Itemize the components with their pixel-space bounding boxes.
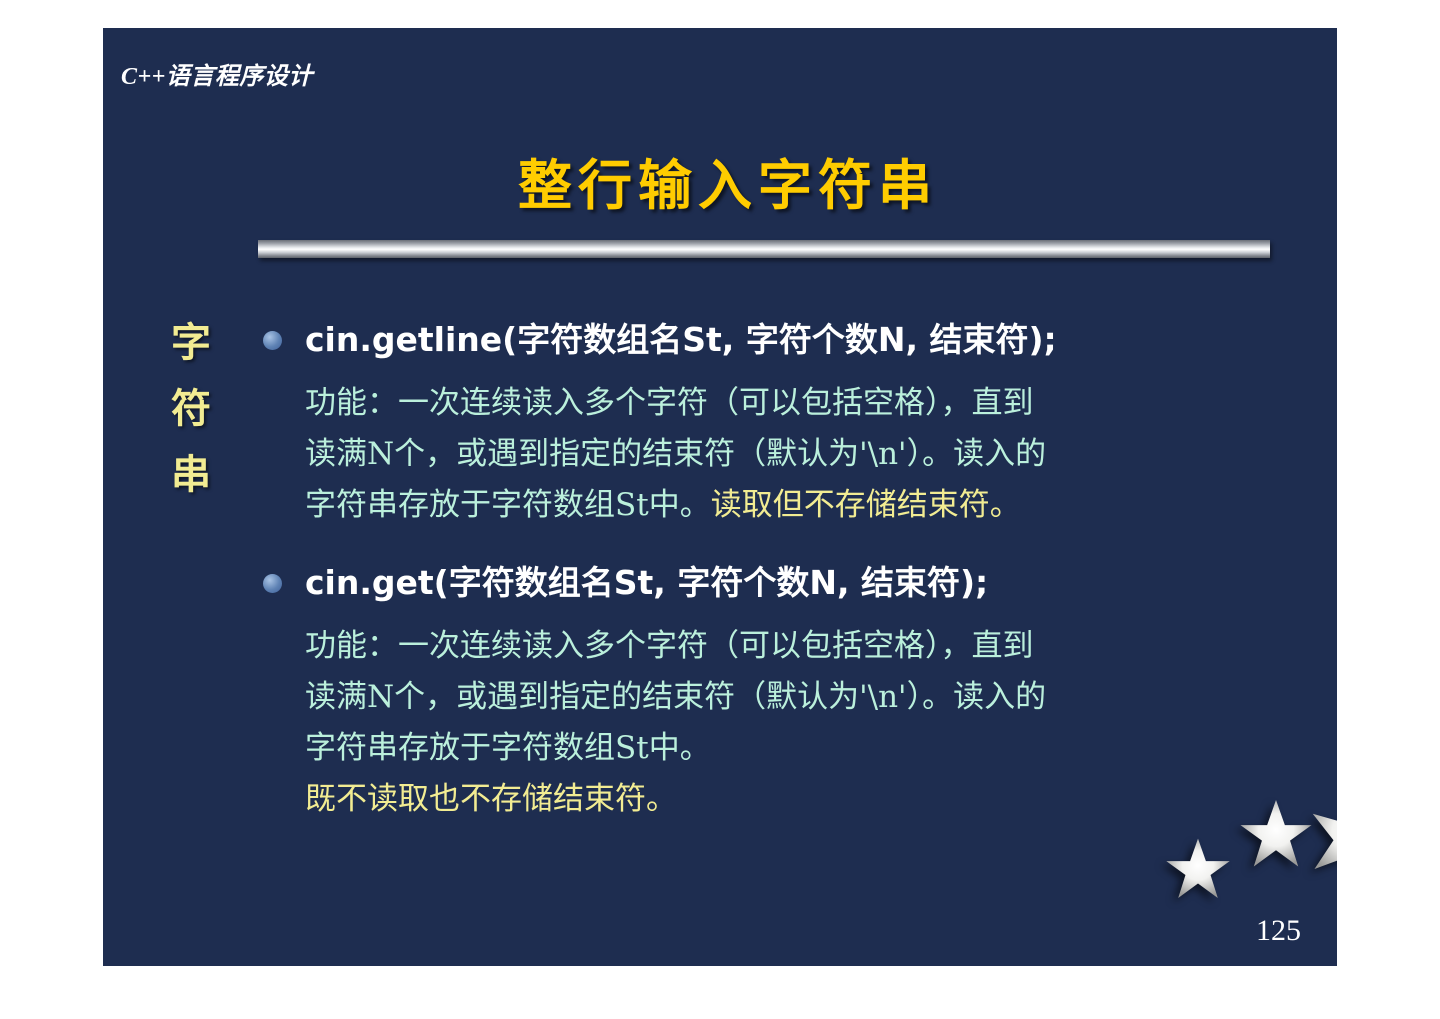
description-line: 读满N个，或遇到指定的结束符（默认为'\n'）。读入的 xyxy=(305,429,1325,480)
slide-header-title: C++语言程序设计 xyxy=(121,56,313,91)
title-divider-bar xyxy=(258,240,1270,258)
slide-content: cin.getline(字符数组名St, 字符个数N, 结束符); 功能：一次连… xyxy=(255,314,1325,825)
description-get: 功能：一次连续读入多个字符（可以包括空格），直到 读满N个，或遇到指定的结束符（… xyxy=(255,621,1325,825)
description-line: 字符串存放于字符数组St中。 xyxy=(305,723,1325,774)
star-medium-center xyxy=(1239,797,1313,871)
description-line: 读满N个，或遇到指定的结束符（默认为'\n'）。读入的 xyxy=(305,672,1325,723)
spacer xyxy=(255,611,1325,621)
vertical-side-label: 字 符 串 xyxy=(160,310,222,508)
description-line: 功能：一次连续读入多个字符（可以包括空格），直到 xyxy=(305,378,1325,429)
page-title: 整行输入字符串 xyxy=(103,141,1337,220)
bullet-item-get: cin.get(字符数组名St, 字符个数N, 结束符); xyxy=(255,557,1325,609)
page-number: 125 xyxy=(1256,914,1301,948)
side-label-char-3: 串 xyxy=(160,442,222,508)
description-line-highlight: 读取但不存储结束符。 xyxy=(711,487,1021,523)
side-label-char-2: 符 xyxy=(160,376,222,442)
description-line-main: 字符串存放于字符数组St中。 xyxy=(305,487,711,523)
spacer xyxy=(255,368,1325,378)
star-large-right xyxy=(1306,790,1337,884)
page-title-text: 整行输入字符串 xyxy=(502,141,938,220)
bullet-label-getline: cin.getline(字符数组名St, 字符个数N, 结束符); xyxy=(305,314,1325,366)
description-getline: 功能：一次连续读入多个字符（可以包括空格），直到 读满N个，或遇到指定的结束符（… xyxy=(255,378,1325,531)
slide-canvas: C++语言程序设计 整行输入字符串 字 符 串 cin.getline(字符数组… xyxy=(103,28,1337,966)
description-line: 字符串存放于字符数组St中。读取但不存储结束符。 xyxy=(305,480,1325,531)
bullet-item-getline: cin.getline(字符数组名St, 字符个数N, 结束符); xyxy=(255,314,1325,366)
side-label-char-1: 字 xyxy=(160,310,222,376)
description-line: 功能：一次连续读入多个字符（可以包括空格），直到 xyxy=(305,621,1325,672)
slide-root: C++语言程序设计 整行输入字符串 字 符 串 cin.getline(字符数组… xyxy=(0,0,1440,1019)
spacer xyxy=(255,531,1325,557)
description-line-highlight: 既不读取也不存储结束符。 xyxy=(305,774,1325,825)
bullet-dot-icon xyxy=(263,574,282,593)
bullet-label-get: cin.get(字符数组名St, 字符个数N, 结束符); xyxy=(305,557,1325,609)
bullet-dot-icon xyxy=(263,331,282,350)
star-small-left xyxy=(1165,836,1231,902)
